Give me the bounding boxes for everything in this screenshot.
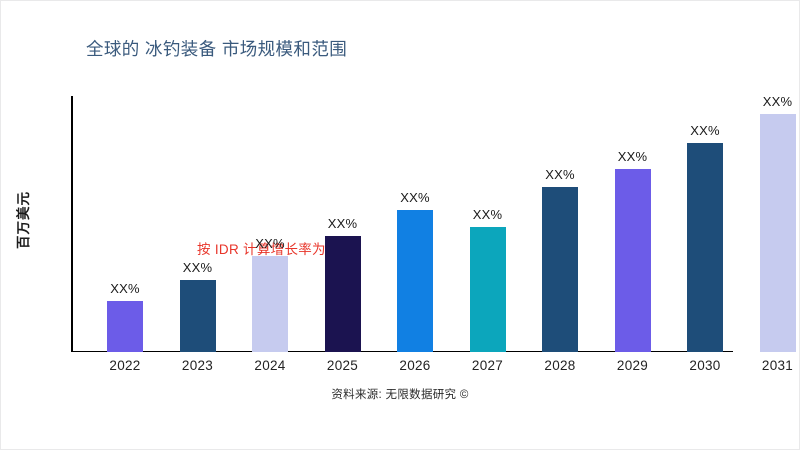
bar-group[interactable]: XX%2023 [180, 96, 216, 352]
bar-value-label: XX% [328, 216, 358, 231]
x-axis-tick-label: 2025 [327, 358, 358, 373]
bar-group[interactable]: XX%2025 [325, 96, 361, 352]
bar-value-label: XX% [473, 207, 503, 222]
bar-group[interactable]: XX%2031 [760, 96, 796, 352]
x-axis-tick-label: 2029 [617, 358, 648, 373]
bar-group[interactable]: XX%2030 [687, 96, 723, 352]
bar[interactable] [325, 236, 361, 352]
bar-group[interactable]: XX%2029 [615, 96, 651, 352]
x-axis-tick-label: 2022 [109, 358, 140, 373]
y-axis-line [71, 96, 73, 352]
x-axis-tick-label: 2026 [399, 358, 430, 373]
bar[interactable] [180, 280, 216, 352]
x-axis-tick-label: 2028 [544, 358, 575, 373]
x-axis-tick-label: 2024 [254, 358, 285, 373]
bar-group[interactable]: XX%2024 [252, 96, 288, 352]
plot-area: 按 IDR 计算增长率为 XX% XX%2022XX%2023XX%2024XX… [71, 96, 733, 352]
bar-value-label: XX% [255, 236, 285, 251]
bar-value-label: XX% [110, 281, 140, 296]
bar-group[interactable]: XX%2028 [542, 96, 578, 352]
bar[interactable] [107, 301, 143, 352]
bar-group[interactable]: XX%2022 [107, 96, 143, 352]
bar[interactable] [397, 210, 433, 352]
x-axis-tick-label: 2027 [472, 358, 503, 373]
bar-group[interactable]: XX%2027 [470, 96, 506, 352]
page-title: 全球的 冰钓装备 市场规模和范围 [86, 36, 347, 61]
source-note: 资料来源: 无限数据研究 © [0, 386, 800, 402]
bar[interactable] [542, 187, 578, 352]
bar[interactable] [470, 227, 506, 352]
bar-group[interactable]: XX%2026 [397, 96, 433, 352]
x-axis-tick-label: 2030 [689, 358, 720, 373]
bar-value-label: XX% [618, 149, 648, 164]
chart-page: 全球的 冰钓装备 市场规模和范围 百万美元 按 IDR 计算增长率为 XX% X… [0, 0, 800, 450]
bar-value-label: XX% [690, 123, 720, 138]
bar-value-label: XX% [763, 94, 793, 109]
bar-value-label: XX% [545, 167, 575, 182]
x-axis-tick-label: 2031 [762, 358, 793, 373]
x-axis-tick-label: 2023 [182, 358, 213, 373]
bar-value-label: XX% [400, 190, 430, 205]
bar[interactable] [760, 114, 796, 352]
bar[interactable] [687, 143, 723, 352]
bar[interactable] [615, 169, 651, 352]
bar[interactable] [252, 256, 288, 352]
y-axis-label: 百万美元 [12, 160, 32, 280]
bar-value-label: XX% [183, 260, 213, 275]
